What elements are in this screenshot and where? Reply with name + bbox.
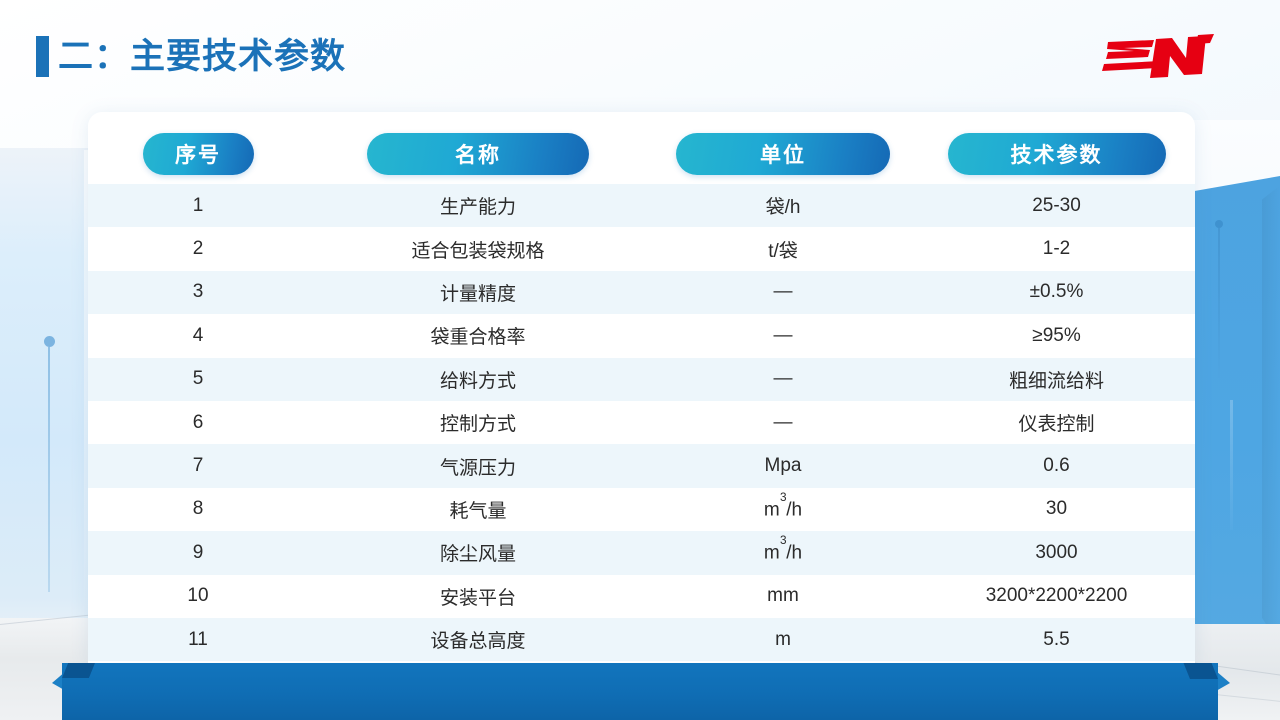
cell-name: 设备总高度 [308, 618, 648, 661]
table-row: 11设备总高度m5.5 [88, 618, 1195, 661]
header-pill-param: 技术参数 [948, 133, 1166, 175]
table-row: 2适合包装袋规格t/袋1-2 [88, 227, 1195, 270]
cell-unit: m [648, 618, 918, 661]
cell-no: 5 [88, 358, 308, 401]
pin-dot-icon [1215, 220, 1223, 228]
table-row: 8耗气量m3/h30 [88, 488, 1195, 531]
cell-no: 7 [88, 444, 308, 487]
cell-unit: m3/h [648, 488, 918, 531]
zn-logo-icon [1102, 34, 1218, 82]
pin-stem [48, 347, 50, 592]
cell-no: 9 [88, 531, 308, 574]
cell-value: ±0.5% [918, 271, 1195, 314]
decorative-pin-left [44, 336, 55, 592]
title-accent-bar [36, 36, 49, 77]
bottom-ribbon [0, 663, 1280, 720]
cell-value: 5.5 [918, 618, 1195, 661]
ribbon-main [62, 663, 1218, 720]
cell-value: 25-30 [918, 184, 1195, 227]
cell-no: 4 [88, 314, 308, 357]
cell-unit: — [648, 271, 918, 314]
cell-unit: t/袋 [648, 227, 918, 270]
cell-value: 3000 [918, 531, 1195, 574]
page-title: 二：主要技术参数 [36, 36, 346, 77]
unit-value: m3/h [764, 498, 802, 521]
table-row: 1生产能力袋/h25-30 [88, 184, 1195, 227]
background-right-panel-shade [1262, 176, 1280, 646]
cell-name: 除尘风量 [308, 531, 648, 574]
header-pill-no: 序号 [143, 133, 254, 175]
cell-name: 耗气量 [308, 488, 648, 531]
table-row: 4袋重合格率—≥95% [88, 314, 1195, 357]
cell-value: 1-2 [918, 227, 1195, 270]
cell-no: 6 [88, 401, 308, 444]
ribbon-tip-right [1216, 671, 1230, 691]
table-header-cell-name: 名称 [308, 133, 648, 175]
decorative-pin-right [1215, 220, 1223, 378]
cell-name: 气源压力 [308, 444, 648, 487]
cell-unit: m3/h [648, 531, 918, 574]
table-row: 6控制方式—仪表控制 [88, 401, 1195, 444]
unit-value: m3/h [764, 541, 802, 564]
cell-no: 11 [88, 618, 308, 661]
header-pill-unit: 单位 [676, 133, 890, 175]
cell-value: 0.6 [918, 444, 1195, 487]
table-header-row: 序号 名称 单位 技术参数 [88, 112, 1195, 184]
parameters-card: 序号 名称 单位 技术参数 1生产能力袋/h25-302适合包装袋规格t/袋1-… [88, 112, 1195, 665]
cell-name: 安装平台 [308, 575, 648, 618]
cell-unit: 袋/h [648, 184, 918, 227]
table-header-cell-param: 技术参数 [918, 133, 1195, 175]
table-header-cell-unit: 单位 [648, 133, 918, 175]
table-header-cell-no: 序号 [88, 133, 308, 175]
decorative-line-right [1230, 400, 1233, 530]
cell-value: 3200*2200*2200 [918, 575, 1195, 618]
ribbon-fold-right [1184, 663, 1218, 679]
table-row: 5给料方式—粗细流给料 [88, 358, 1195, 401]
table-row: 9除尘风量m3/h3000 [88, 531, 1195, 574]
cell-unit: — [648, 358, 918, 401]
cell-unit: — [648, 314, 918, 357]
slide-header: 二：主要技术参数 [0, 0, 1280, 112]
cell-value: ≥95% [918, 314, 1195, 357]
cell-name: 控制方式 [308, 401, 648, 444]
cell-no: 1 [88, 184, 308, 227]
cell-name: 适合包装袋规格 [308, 227, 648, 270]
cell-unit: mm [648, 575, 918, 618]
cell-name: 袋重合格率 [308, 314, 648, 357]
cell-no: 8 [88, 488, 308, 531]
cell-unit: — [648, 401, 918, 444]
slide-root: 二：主要技术参数 序号 名称 单位 [0, 0, 1280, 720]
cell-name: 计量精度 [308, 271, 648, 314]
table-row: 3计量精度—±0.5% [88, 271, 1195, 314]
title-text: 二：主要技术参数 [58, 36, 346, 77]
cell-name: 给料方式 [308, 358, 648, 401]
cell-no: 3 [88, 271, 308, 314]
table-row: 7气源压力Mpa0.6 [88, 444, 1195, 487]
header-pill-name: 名称 [367, 133, 589, 175]
cell-value: 仪表控制 [918, 401, 1195, 444]
pin-dot-icon [44, 336, 55, 347]
cell-unit: Mpa [648, 444, 918, 487]
cell-no: 10 [88, 575, 308, 618]
company-logo [1102, 34, 1218, 82]
pin-stem [1218, 228, 1220, 378]
table-row: 10安装平台mm3200*2200*2200 [88, 575, 1195, 618]
table-body: 1生产能力袋/h25-302适合包装袋规格t/袋1-23计量精度—±0.5%4袋… [88, 184, 1195, 661]
cell-no: 2 [88, 227, 308, 270]
cell-value: 30 [918, 488, 1195, 531]
cell-value: 粗细流给料 [918, 358, 1195, 401]
cell-name: 生产能力 [308, 184, 648, 227]
